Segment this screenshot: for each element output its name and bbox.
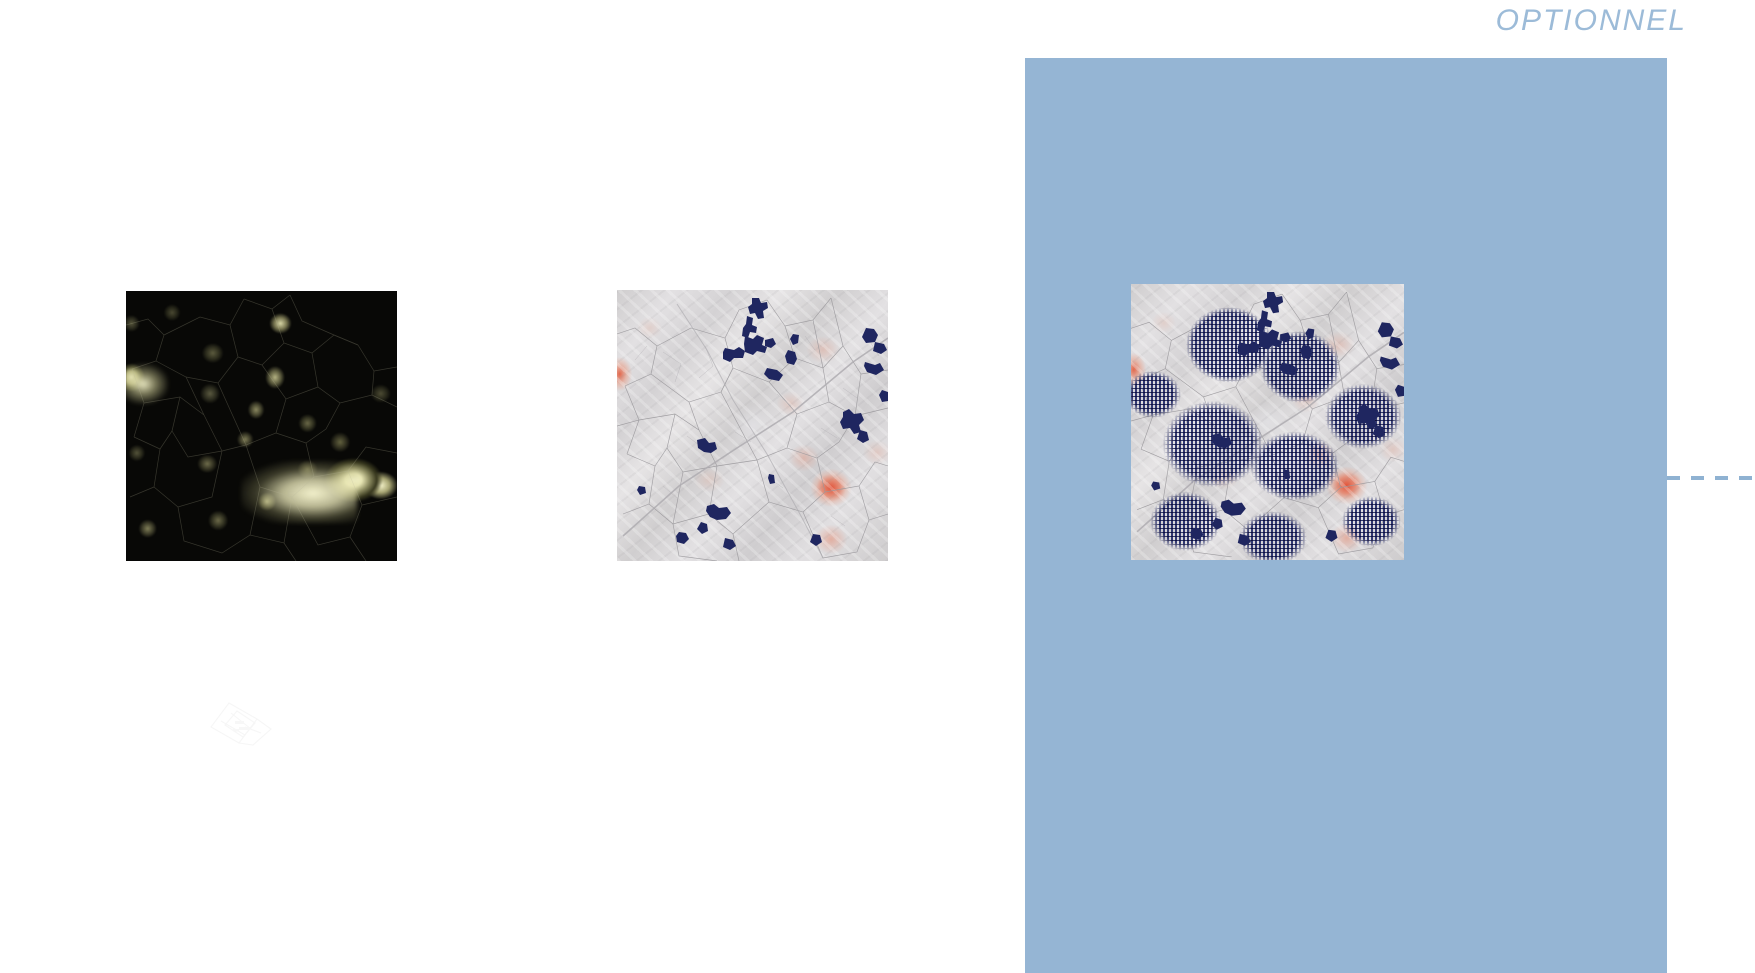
panel-night-lights[interactable] — [126, 291, 397, 561]
diamond-logo-watermark-icon — [199, 699, 283, 751]
callout-connector-dashed-line — [1667, 476, 1755, 480]
optional-label: OPTIONNEL — [1496, 3, 1687, 39]
feature-polygons-navy-masked-icon — [1131, 284, 1404, 557]
slide-canvas: { "slide": { "background_color": "#fffff… — [0, 0, 1755, 973]
panel-cadastral-heatmap[interactable] — [617, 290, 888, 561]
admin-boundary-lines-icon — [126, 291, 397, 561]
feature-polygons-navy-icon — [617, 290, 888, 561]
panel-cadastral-heatmap-masked[interactable] — [1131, 284, 1404, 560]
